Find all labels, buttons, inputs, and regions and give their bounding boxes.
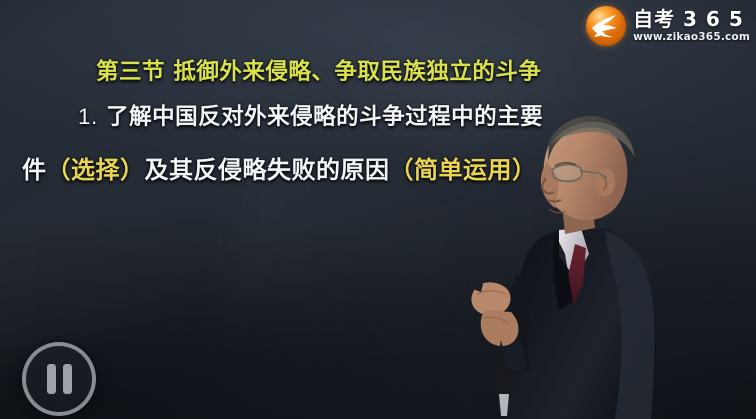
swallow-bird-icon <box>586 6 626 46</box>
logo-brand: 自考 3 6 5 <box>633 9 750 29</box>
video-player[interactable]: 第三节 抵御外来侵略、争取民族独立的斗争 1. 了解中国反对外来侵略的斗争过程中… <box>0 0 756 419</box>
site-logo: 自考 3 6 5 www.zikao365.com <box>586 4 750 48</box>
pause-icon <box>63 364 72 394</box>
logo-text-block: 自考 3 6 5 www.zikao365.com <box>633 9 750 43</box>
pause-button[interactable] <box>22 342 96 416</box>
logo-url: www.zikao365.com <box>633 32 750 43</box>
presenter-figure <box>455 78 670 419</box>
pause-icon <box>47 364 56 394</box>
